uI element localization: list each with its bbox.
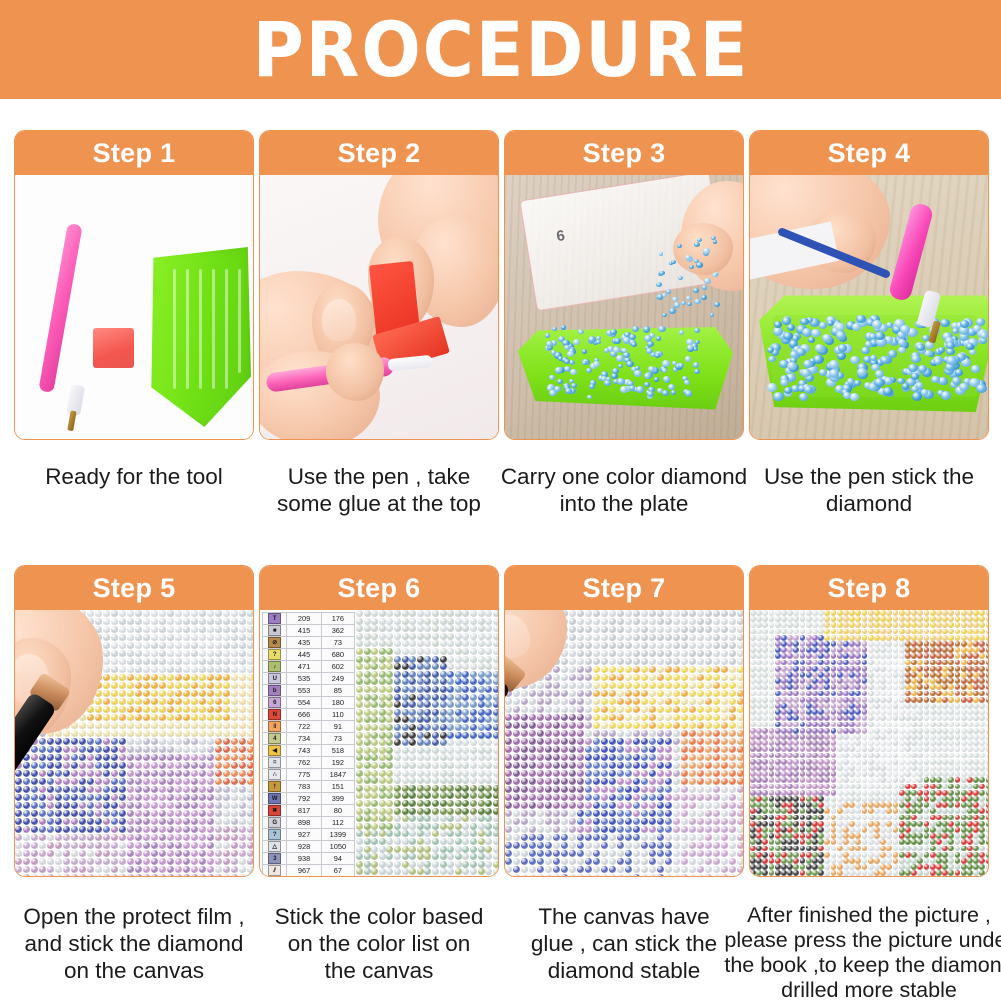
mosaic-drill bbox=[119, 714, 126, 721]
mosaic-drill bbox=[561, 658, 568, 665]
mosaic-drill bbox=[424, 625, 431, 632]
mosaic-drill bbox=[470, 656, 477, 663]
mosaic-drill bbox=[917, 660, 923, 666]
mosaic-drill bbox=[762, 796, 768, 802]
mosaic-drill bbox=[63, 762, 70, 769]
color-list-row: ?445680 bbox=[263, 649, 355, 661]
mosaic-drill bbox=[762, 815, 768, 821]
step-3-caption: Carry one color diamond into the plate bbox=[498, 463, 750, 517]
mosaic-drill bbox=[455, 785, 462, 792]
mosaic-drill bbox=[756, 815, 762, 821]
mosaic-drill bbox=[633, 778, 640, 785]
mosaic-drill bbox=[478, 853, 485, 860]
mosaic-drill bbox=[955, 771, 961, 777]
mosaic-drill bbox=[713, 738, 720, 745]
mosaic-drill bbox=[769, 678, 775, 684]
color-list-row: ♪471602 bbox=[263, 661, 355, 673]
mosaic-drill bbox=[111, 618, 118, 625]
mosaic-drill bbox=[151, 746, 158, 753]
mosaic-drill bbox=[529, 746, 536, 753]
mosaic-drill bbox=[936, 622, 942, 628]
mosaic-drill bbox=[775, 790, 781, 796]
mosaic-drill bbox=[417, 678, 424, 685]
mosaic-drill bbox=[868, 827, 874, 833]
mosaic-drill bbox=[440, 671, 447, 678]
mosaic-drill bbox=[843, 734, 849, 740]
color-swatch-icon: N bbox=[268, 709, 281, 720]
mosaic-drill bbox=[167, 714, 174, 721]
mosaic-drill bbox=[455, 686, 462, 693]
mosaic-drill bbox=[775, 771, 781, 777]
mosaic-drill bbox=[470, 671, 477, 678]
mosaic-drill bbox=[31, 794, 38, 801]
mosaic-drill bbox=[175, 802, 182, 809]
mosaic-drill bbox=[386, 838, 393, 845]
mosaic-drill bbox=[893, 734, 899, 740]
mosaic-drill bbox=[111, 682, 118, 689]
mosaic-drill bbox=[824, 808, 830, 814]
mosaic-drill bbox=[394, 785, 401, 792]
mosaic-drill bbox=[762, 641, 768, 647]
mosaic-drill bbox=[111, 658, 118, 665]
mosaic-drill bbox=[862, 641, 868, 647]
mosaic-drill bbox=[818, 660, 824, 666]
mosaic-drill bbox=[917, 771, 923, 777]
mosaic-drill bbox=[31, 818, 38, 825]
mosaic-drill bbox=[849, 635, 855, 641]
mosaic-drill bbox=[545, 874, 552, 876]
mosaic-drill bbox=[478, 823, 485, 830]
mosaic-drill bbox=[239, 810, 246, 817]
mosaic-drill bbox=[119, 730, 126, 737]
mosaic-drill bbox=[930, 672, 936, 678]
mosaic-drill bbox=[223, 650, 230, 657]
mosaic-drill bbox=[762, 691, 768, 697]
mosaic-drill bbox=[95, 874, 102, 876]
mosaic-drill bbox=[812, 821, 818, 827]
mosaic-drill bbox=[633, 842, 640, 849]
mosaic-drill bbox=[633, 770, 640, 777]
mosaic-drill bbox=[447, 709, 454, 716]
mosaic-drill bbox=[973, 697, 979, 703]
mosaic-drill bbox=[893, 746, 899, 752]
mosaic-drill bbox=[681, 810, 688, 817]
mosaic-drill bbox=[905, 808, 911, 814]
mosaic-drill bbox=[800, 722, 806, 728]
mosaic-drill bbox=[948, 616, 954, 622]
mosaic-drill bbox=[665, 834, 672, 841]
mosaic-drill bbox=[183, 746, 190, 753]
mosaic-drill bbox=[697, 674, 704, 681]
mosaic-drill bbox=[537, 730, 544, 737]
mosaic-drill bbox=[955, 715, 961, 721]
mosaic-drill bbox=[569, 738, 576, 745]
diamond-bead bbox=[662, 390, 669, 396]
mosaic-drill bbox=[537, 826, 544, 833]
mosaic-drill bbox=[775, 610, 781, 616]
mosaic-drill bbox=[911, 784, 917, 790]
mosaic-drill bbox=[111, 858, 118, 865]
mosaic-drill bbox=[485, 777, 492, 784]
mosaic-drill bbox=[470, 694, 477, 701]
mosaic-drill bbox=[119, 802, 126, 809]
mosaic-drill bbox=[175, 738, 182, 745]
mosaic-drill bbox=[231, 746, 238, 753]
mosaic-drill bbox=[569, 810, 576, 817]
mosaic-drill bbox=[577, 842, 584, 849]
mosaic-drill bbox=[386, 648, 393, 655]
mosaic-drill bbox=[781, 740, 787, 746]
diamond-bead bbox=[696, 262, 703, 268]
mosaic-drill bbox=[239, 738, 246, 745]
mosaic-drill bbox=[893, 821, 899, 827]
mosaic-drill bbox=[409, 671, 416, 678]
mosaic-drill bbox=[806, 715, 812, 721]
mosaic-drill bbox=[641, 778, 648, 785]
mosaic-drill bbox=[513, 834, 520, 841]
mosaic-drill bbox=[247, 722, 253, 729]
mosaic-drill bbox=[175, 834, 182, 841]
mosaic-drill bbox=[593, 730, 600, 737]
mosaic-drill bbox=[862, 666, 868, 672]
mosaic-drill bbox=[729, 690, 736, 697]
mosaic-drill bbox=[87, 794, 94, 801]
mosaic-drill bbox=[223, 818, 230, 825]
mosaic-drill bbox=[513, 698, 520, 705]
mosaic-drill bbox=[837, 610, 843, 616]
mosaic-drill bbox=[979, 684, 985, 690]
mosaic-drill bbox=[135, 746, 142, 753]
mosaic-drill bbox=[111, 730, 118, 737]
mosaic-drill bbox=[775, 802, 781, 808]
mosaic-drill bbox=[837, 759, 843, 765]
mosaic-drill bbox=[455, 792, 462, 799]
mosaic-drill bbox=[824, 815, 830, 821]
mosaic-drill bbox=[697, 730, 704, 737]
mosaic-drill bbox=[577, 698, 584, 705]
mosaic-drill bbox=[762, 709, 768, 715]
mosaic-drill bbox=[899, 641, 905, 647]
mosaic-drill bbox=[199, 786, 206, 793]
mosaic-drill bbox=[447, 640, 454, 647]
mosaic-drill bbox=[79, 730, 86, 737]
mosaic-drill bbox=[775, 678, 781, 684]
mosaic-drill bbox=[769, 753, 775, 759]
mosaic-drill bbox=[756, 790, 762, 796]
mosaic-drill bbox=[379, 815, 386, 822]
mosaic-drill bbox=[831, 734, 837, 740]
mosaic-drill bbox=[673, 818, 680, 825]
mosaic-drill bbox=[417, 754, 424, 761]
color-code-cell: 938 bbox=[287, 853, 321, 864]
mosaic-drill bbox=[432, 800, 439, 807]
mosaic-drill bbox=[159, 698, 166, 705]
mosaic-drill bbox=[762, 784, 768, 790]
mosaic-drill bbox=[223, 634, 230, 641]
diamond-bead bbox=[617, 378, 625, 385]
mosaic-drill bbox=[961, 641, 967, 647]
mosaic-drill bbox=[111, 666, 118, 673]
mosaic-drill bbox=[930, 827, 936, 833]
color-code-cell: 415 bbox=[287, 625, 321, 636]
mosaic-drill bbox=[470, 808, 477, 815]
mosaic-drill bbox=[769, 684, 775, 690]
mosaic-drill bbox=[207, 810, 214, 817]
mosaic-drill bbox=[593, 690, 600, 697]
mosaic-drill bbox=[609, 762, 616, 769]
mosaic-drill bbox=[23, 786, 30, 793]
mosaic-drill bbox=[485, 701, 492, 708]
mosaic-drill bbox=[432, 724, 439, 731]
diamond-bead bbox=[636, 386, 644, 393]
mosaic-drill bbox=[756, 734, 762, 740]
mosaic-drill bbox=[478, 656, 485, 663]
mosaic-drill bbox=[824, 647, 830, 653]
mosaic-drill bbox=[831, 610, 837, 616]
mosaic-drill bbox=[729, 658, 736, 665]
mosaic-drill bbox=[199, 714, 206, 721]
mosaic-drill bbox=[917, 653, 923, 659]
mosaic-drill bbox=[127, 674, 134, 681]
mosaic-drill bbox=[737, 730, 743, 737]
mosaic-drill bbox=[886, 691, 892, 697]
mosaic-drill bbox=[537, 818, 544, 825]
mosaic-drill bbox=[880, 641, 886, 647]
mosaic-drill bbox=[561, 834, 568, 841]
mosaic-drill bbox=[986, 808, 988, 814]
mosaic-drill bbox=[601, 650, 608, 657]
mosaic-drill bbox=[800, 815, 806, 821]
color-code-cell: 898 bbox=[287, 817, 321, 828]
diamond-bead bbox=[589, 384, 595, 389]
mosaic-drill bbox=[223, 730, 230, 737]
mosaic-drill bbox=[356, 648, 363, 655]
mosaic-drill bbox=[649, 802, 656, 809]
mosaic-drill bbox=[493, 701, 498, 708]
mosaic-drill bbox=[513, 842, 520, 849]
mosaic-drill bbox=[843, 697, 849, 703]
mosaic-drill bbox=[191, 642, 198, 649]
mosaic-drill bbox=[585, 738, 592, 745]
mosaic-drill bbox=[394, 625, 401, 632]
mosaic-drill bbox=[417, 747, 424, 754]
mosaic-drill bbox=[806, 827, 812, 833]
mosaic-drill bbox=[478, 754, 485, 761]
mosaic-drill bbox=[893, 728, 899, 734]
mosaic-drill bbox=[143, 842, 150, 849]
mosaic-drill bbox=[15, 850, 22, 857]
mosaic-drill bbox=[880, 790, 886, 796]
mosaic-drill bbox=[633, 634, 640, 641]
mosaic-drill bbox=[793, 765, 799, 771]
mosaic-drill bbox=[843, 610, 849, 616]
mosaic-drill bbox=[111, 818, 118, 825]
mosaic-drill bbox=[545, 826, 552, 833]
mosaic-drill bbox=[379, 610, 386, 617]
mosaic-drill bbox=[127, 818, 134, 825]
mosaic-drill bbox=[247, 802, 253, 809]
mosaic-drill bbox=[462, 625, 469, 632]
mosaic-drill bbox=[899, 709, 905, 715]
mosaic-drill bbox=[513, 786, 520, 793]
mosaic-drill bbox=[402, 785, 409, 792]
mosaic-drill bbox=[862, 765, 868, 771]
mosaic-drill bbox=[199, 722, 206, 729]
mosaic-drill bbox=[955, 796, 961, 802]
mosaic-drill bbox=[440, 792, 447, 799]
mosaic-drill bbox=[47, 738, 54, 745]
mosaic-drill bbox=[159, 874, 166, 876]
mosaic-drill bbox=[812, 635, 818, 641]
mosaic-drill bbox=[505, 802, 512, 809]
mosaic-drill bbox=[905, 678, 911, 684]
mosaic-drill bbox=[787, 777, 793, 783]
mosaic-drill bbox=[705, 754, 712, 761]
mosaic-drill bbox=[231, 690, 238, 697]
mosaic-drill bbox=[657, 658, 664, 665]
mosaic-drill bbox=[529, 730, 536, 737]
mosaic-drill bbox=[521, 810, 528, 817]
mosaic-drill bbox=[750, 777, 756, 783]
mosaic-drill bbox=[617, 642, 624, 649]
mosaic-drill bbox=[973, 802, 979, 808]
diamond-bead bbox=[644, 335, 652, 342]
mosaic-drill bbox=[986, 777, 988, 783]
mosaic-drill bbox=[697, 770, 704, 777]
mosaic-drill bbox=[649, 770, 656, 777]
mosaic-drill bbox=[942, 616, 948, 622]
mosaic-drill bbox=[849, 697, 855, 703]
mosaic-drill bbox=[649, 634, 656, 641]
mosaic-drill bbox=[356, 633, 363, 640]
mosaic-drill bbox=[775, 746, 781, 752]
mosaic-drill bbox=[199, 834, 206, 841]
mosaic-drill bbox=[31, 866, 38, 873]
color-count-cell: 151 bbox=[322, 781, 355, 792]
mosaic-drill bbox=[874, 784, 880, 790]
diamond-bead bbox=[671, 390, 677, 395]
mosaic-drill bbox=[447, 633, 454, 640]
mosaic-drill bbox=[127, 850, 134, 857]
diamond-bead bbox=[668, 384, 676, 390]
mosaic-drill bbox=[899, 759, 905, 765]
mosaic-drill bbox=[697, 666, 704, 673]
mosaic-drill bbox=[215, 842, 222, 849]
mosaic-drill bbox=[183, 754, 190, 761]
mosaic-drill bbox=[729, 714, 736, 721]
mosaic-drill bbox=[455, 694, 462, 701]
mosaic-drill bbox=[175, 874, 182, 876]
mosaic-drill bbox=[713, 706, 720, 713]
mosaic-drill bbox=[849, 678, 855, 684]
mosaic-drill bbox=[880, 653, 886, 659]
mosaic-drill bbox=[364, 868, 371, 875]
mosaic-drill bbox=[402, 656, 409, 663]
mosaic-drill bbox=[849, 684, 855, 690]
mosaic-drill bbox=[553, 730, 560, 737]
mosaic-drill bbox=[775, 796, 781, 802]
mosaic-drill bbox=[737, 722, 743, 729]
mosaic-drill bbox=[665, 698, 672, 705]
color-symbol-cell: † bbox=[263, 781, 287, 792]
mosaic-drill bbox=[478, 686, 485, 693]
mosaic-drill bbox=[818, 771, 824, 777]
mosaic-drill bbox=[837, 622, 843, 628]
mosaic-drill bbox=[455, 663, 462, 670]
mosaic-drill bbox=[601, 786, 608, 793]
mosaic-drill bbox=[470, 792, 477, 799]
mosaic-drill bbox=[986, 722, 988, 728]
color-count-cell: 192 bbox=[322, 757, 355, 768]
mosaic-drill bbox=[721, 778, 728, 785]
mosaic-drill bbox=[625, 858, 632, 865]
mosaic-drill bbox=[942, 660, 948, 666]
mosaic-drill bbox=[440, 754, 447, 761]
mosaic-drill bbox=[371, 618, 378, 625]
mosaic-drill bbox=[135, 690, 142, 697]
mosaic-drill bbox=[818, 647, 824, 653]
mosaic-drill bbox=[862, 808, 868, 814]
mosaic-drill bbox=[942, 672, 948, 678]
mosaic-drill bbox=[843, 802, 849, 808]
mosaic-drill bbox=[239, 722, 246, 729]
mosaic-drill bbox=[705, 650, 712, 657]
mosaic-drill bbox=[924, 678, 930, 684]
mosaic-drill bbox=[545, 834, 552, 841]
mosaic-drill bbox=[689, 722, 696, 729]
mosaic-drill bbox=[917, 666, 923, 672]
mosaic-drill bbox=[837, 672, 843, 678]
mosaic-drill bbox=[625, 866, 632, 873]
mosaic-drill bbox=[493, 724, 498, 731]
mosaic-drill bbox=[837, 802, 843, 808]
mosaic-drill bbox=[893, 616, 899, 622]
mosaic-drill bbox=[447, 770, 454, 777]
mosaic-drill bbox=[601, 626, 608, 633]
mosaic-drill bbox=[756, 641, 762, 647]
mosaic-drill bbox=[183, 794, 190, 801]
mosaic-drill bbox=[231, 610, 238, 617]
mosaic-drill bbox=[103, 634, 110, 641]
mosaic-drill bbox=[111, 762, 118, 769]
mosaic-drill bbox=[175, 658, 182, 665]
mosaic-drill bbox=[874, 827, 880, 833]
mosaic-drill bbox=[756, 759, 762, 765]
mosaic-drill bbox=[649, 834, 656, 841]
mosaic-drill bbox=[967, 759, 973, 765]
mosaic-drill bbox=[893, 610, 899, 616]
mosaic-drill bbox=[868, 715, 874, 721]
mosaic-drill bbox=[199, 778, 206, 785]
mosaic-drill bbox=[721, 842, 728, 849]
mosaic-drill bbox=[824, 821, 830, 827]
mosaic-drill bbox=[769, 629, 775, 635]
mosaic-drill bbox=[432, 861, 439, 868]
mosaic-drill bbox=[151, 802, 158, 809]
mosaic-drill bbox=[721, 770, 728, 777]
mosaic-drill bbox=[756, 784, 762, 790]
color-swatch-icon: ■ bbox=[268, 625, 281, 636]
mosaic-drill bbox=[806, 660, 812, 666]
mosaic-drill bbox=[787, 616, 793, 622]
mosaic-drill bbox=[447, 716, 454, 723]
mosaic-drill bbox=[478, 861, 485, 868]
mosaic-drill bbox=[199, 762, 206, 769]
mosaic-drill bbox=[386, 754, 393, 761]
mosaic-drill bbox=[135, 850, 142, 857]
mosaic-drill bbox=[55, 818, 62, 825]
mosaic-drill bbox=[849, 746, 855, 752]
